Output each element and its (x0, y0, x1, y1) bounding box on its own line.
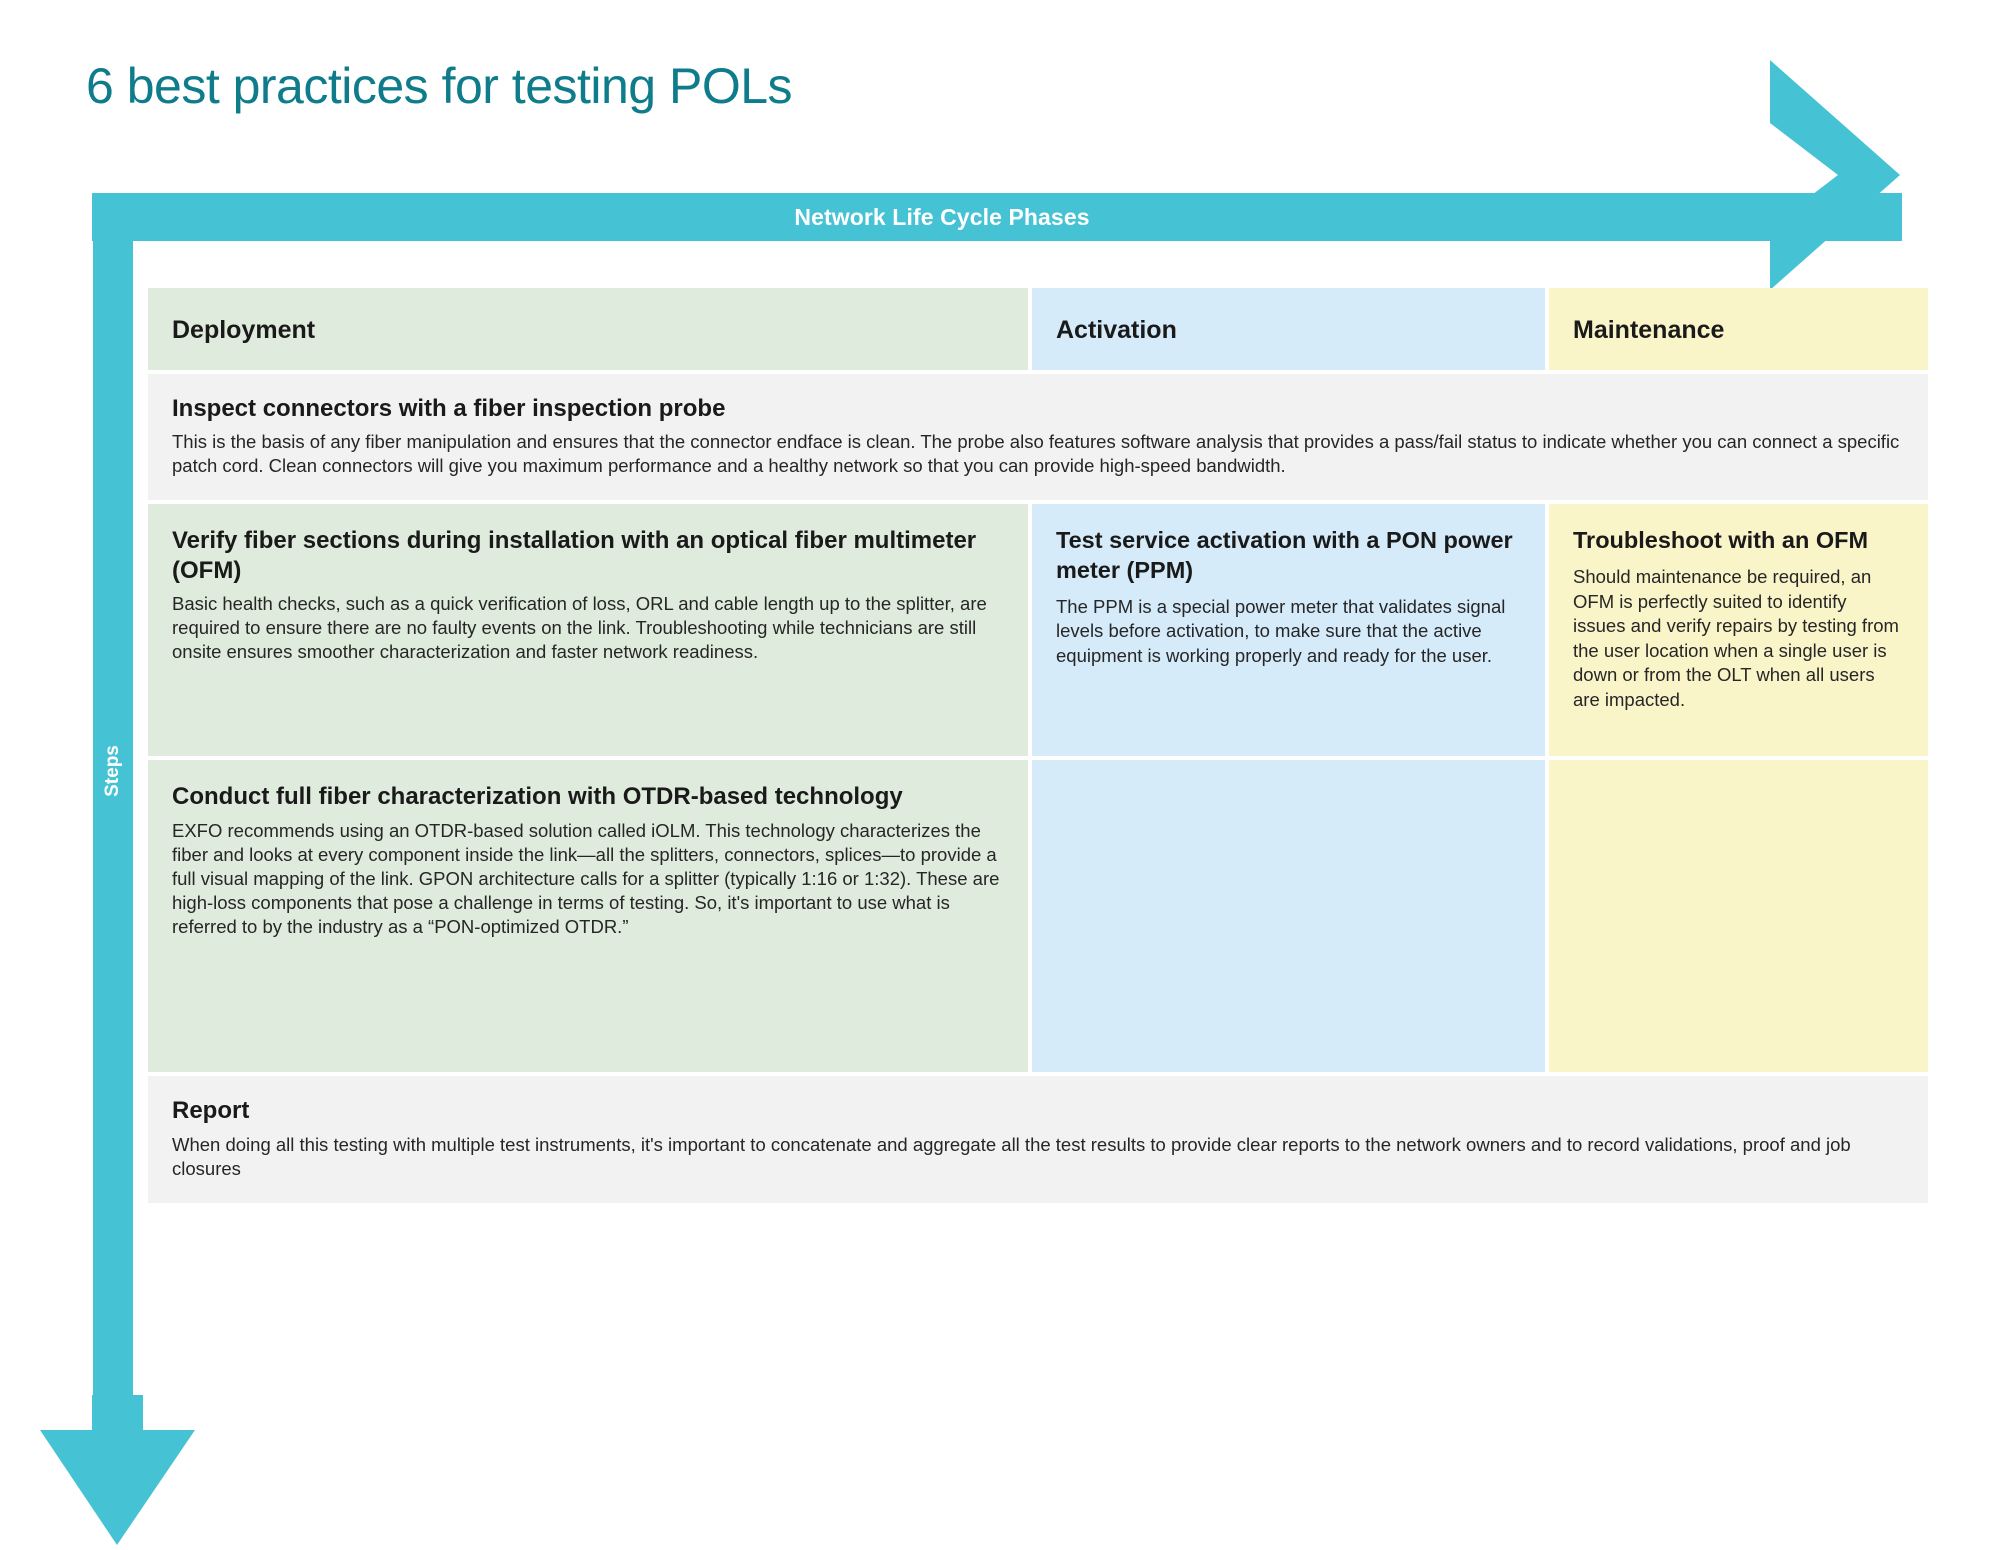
practice-row-third: Conduct full fiber characterization with… (148, 760, 1928, 1072)
practice-card-report[interactable]: Report When doing all this testing with … (148, 1076, 1928, 1202)
arrow-down-icon (40, 1395, 195, 1550)
practice-heading: Inspect connectors with a fiber inspecti… (172, 394, 1904, 423)
practice-heading: Test service activation with a PON power… (1056, 526, 1521, 585)
practice-card-activation-empty (1032, 760, 1545, 1072)
steps-axis-label: Steps (93, 691, 133, 851)
steps-axis-arrow: Steps (93, 241, 133, 1441)
practice-card-verify-fiber-sections[interactable]: Verify fiber sections during installatio… (148, 504, 1028, 756)
practice-heading: Troubleshoot with an OFM (1573, 526, 1904, 556)
page-title: 6 best practices for testing POLs (86, 57, 792, 115)
practice-body: Should maintenance be required, an OFM i… (1573, 565, 1904, 713)
practice-row-report: Report When doing all this testing with … (148, 1076, 1928, 1202)
practice-card-troubleshoot-with-ofm[interactable]: Troubleshoot with an OFM Should maintena… (1549, 504, 1928, 756)
practice-row-inspect-connectors: Inspect connectors with a fiber inspecti… (148, 374, 1928, 500)
phases-axis-label: Network Life Cycle Phases (92, 193, 1792, 241)
column-header-maintenance[interactable]: Maintenance (1549, 288, 1928, 370)
practice-body: When doing all this testing with multipl… (172, 1133, 1904, 1181)
practice-heading: Verify fiber sections during installatio… (172, 526, 1004, 585)
practice-row-second: Verify fiber sections during installatio… (148, 504, 1928, 756)
column-header-maintenance-label: Maintenance (1573, 316, 1904, 345)
practice-card-full-fiber-characterization[interactable]: Conduct full fiber characterization with… (148, 760, 1028, 1072)
practice-card-test-service-activation[interactable]: Test service activation with a PON power… (1032, 504, 1545, 756)
practice-body: EXFO recommends using an OTDR-based solu… (172, 819, 1004, 939)
arrow-right-icon (1750, 60, 1900, 290)
practice-body: Basic health checks, such as a quick ver… (172, 592, 1004, 664)
phases-axis-arrow: Network Life Cycle Phases (92, 193, 1964, 241)
practice-card-inspect-connectors[interactable]: Inspect connectors with a fiber inspecti… (148, 374, 1928, 500)
column-header-deployment-label: Deployment (172, 316, 1004, 345)
practice-body: This is the basis of any fiber manipulat… (172, 430, 1904, 478)
matrix-header-row: Deployment Activation Maintenance (148, 288, 1928, 370)
practice-body: The PPM is a special power meter that va… (1056, 595, 1521, 669)
column-header-activation-label: Activation (1056, 316, 1521, 345)
practice-card-maintenance-empty (1549, 760, 1928, 1072)
best-practices-matrix: Deployment Activation Maintenance Inspec… (148, 288, 1928, 1203)
practice-heading: Report (172, 1096, 1904, 1125)
practice-heading: Conduct full fiber characterization with… (172, 782, 1004, 811)
column-header-deployment[interactable]: Deployment (148, 288, 1028, 370)
column-header-activation[interactable]: Activation (1032, 288, 1545, 370)
